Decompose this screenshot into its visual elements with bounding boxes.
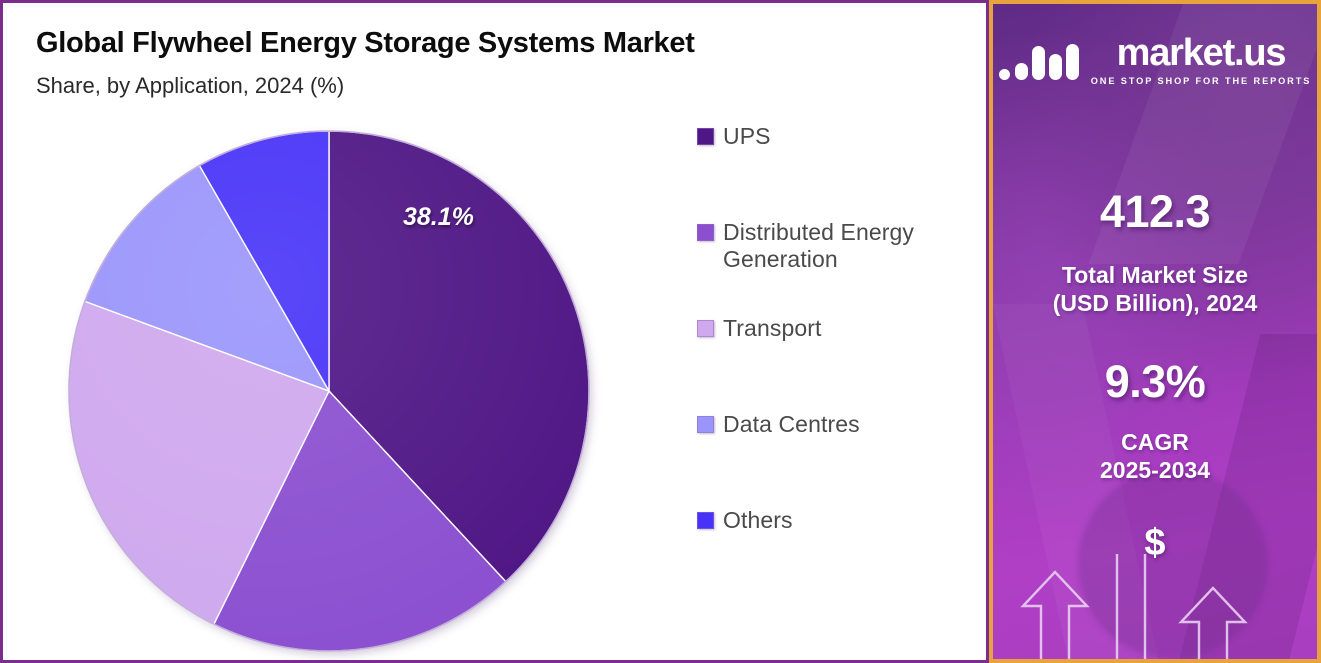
- legend-item-label: UPS: [723, 123, 771, 150]
- legend-item-transport[interactable]: Transport: [697, 315, 977, 411]
- market-size-caption: Total Market Size(USD Billion), 2024: [993, 262, 1317, 317]
- brand-tagline: ONE STOP SHOP FOR THE REPORTS: [1091, 76, 1312, 86]
- legend-item-data-centres[interactable]: Data Centres: [697, 411, 977, 507]
- brand-logo[interactable]: market.us ONE STOP SHOP FOR THE REPORTS: [993, 34, 1317, 86]
- market-us-logo-icon: [999, 40, 1079, 80]
- legend-item-label: Transport: [723, 315, 821, 342]
- chart-legend: UPSDistributed Energy GenerationTranspor…: [697, 123, 977, 603]
- legend-swatch-icon: [697, 416, 714, 433]
- legend-item-distributed-energy-generation[interactable]: Distributed Energy Generation: [697, 219, 977, 315]
- legend-swatch-icon: [697, 320, 714, 337]
- infographic-canvas: Global Flywheel Energy Storage Systems M…: [0, 0, 1321, 663]
- legend-swatch-icon: [697, 224, 714, 241]
- page-title: Global Flywheel Energy Storage Systems M…: [36, 27, 695, 60]
- legend-item-label: Distributed Energy Generation: [723, 219, 977, 272]
- chart-panel: Global Flywheel Energy Storage Systems M…: [0, 0, 989, 663]
- legend-item-others[interactable]: Others: [697, 507, 977, 603]
- market-size-value: 412.3: [993, 186, 1317, 238]
- stats-panel: market.us ONE STOP SHOP FOR THE REPORTS …: [989, 0, 1321, 663]
- growth-arrows-icon: [993, 554, 1317, 659]
- cagr-value: 9.3%: [993, 356, 1317, 408]
- legend-swatch-icon: [697, 512, 714, 529]
- chart-subtitle: Share, by Application, 2024 (%): [36, 73, 344, 99]
- cagr-caption: CAGR2025-2034: [993, 429, 1317, 484]
- brand-name: market.us: [1117, 34, 1286, 72]
- pie-chart: 38.1%: [67, 128, 591, 654]
- stats-panel-inner: market.us ONE STOP SHOP FOR THE REPORTS …: [993, 4, 1317, 659]
- legend-item-label: Data Centres: [723, 411, 860, 438]
- pie-slices: [67, 128, 591, 654]
- legend-swatch-icon: [697, 128, 714, 145]
- pie-slice-label-ups: 38.1%: [403, 203, 474, 232]
- legend-item-label: Others: [723, 507, 793, 534]
- legend-item-ups[interactable]: UPS: [697, 123, 977, 219]
